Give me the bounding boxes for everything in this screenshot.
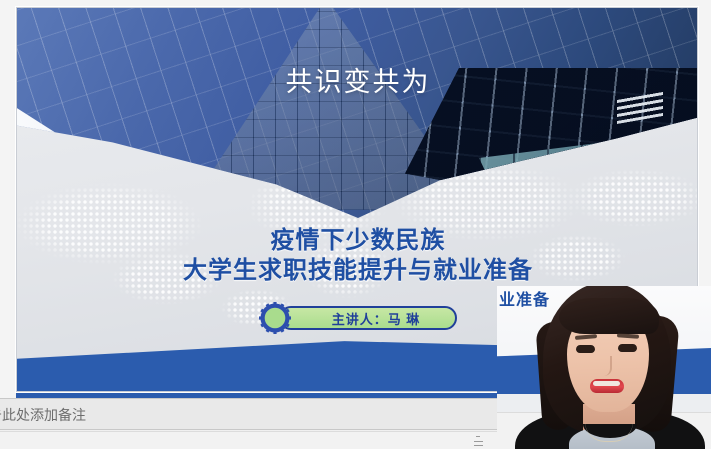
slide-header-title[interactable]: 共识变共为 (17, 60, 698, 99)
main-title-line-1: 疫情下少数民族 (17, 226, 698, 256)
presenter-figure (497, 286, 711, 449)
gear-icon (259, 302, 291, 334)
presenter-eye-left (576, 345, 595, 353)
presentation-window: 共识变共为 疫情下少数民族 大学生求职技能提升与就业准备 (0, 0, 711, 449)
notes-placeholder[interactable]: 击此处添加备注 (0, 405, 86, 425)
presenter-fringe (559, 298, 659, 334)
presenter-eye-right (618, 344, 637, 352)
presenter-webcam-overlay[interactable]: 业准备 (497, 286, 711, 449)
presenter-name-pill: 主讲人：马 琳 (279, 306, 457, 330)
presenter-nose (600, 356, 612, 376)
presenter-badge[interactable]: 主讲人：马 琳 (259, 305, 457, 331)
main-title-line-2: 大学生求职技能提升与就业准备 (17, 256, 698, 286)
slide-main-title[interactable]: 疫情下少数民族 大学生求职技能提升与就业准备 (17, 226, 698, 286)
presenter-teeth (593, 381, 620, 386)
resize-handle-icon[interactable] (472, 436, 484, 446)
